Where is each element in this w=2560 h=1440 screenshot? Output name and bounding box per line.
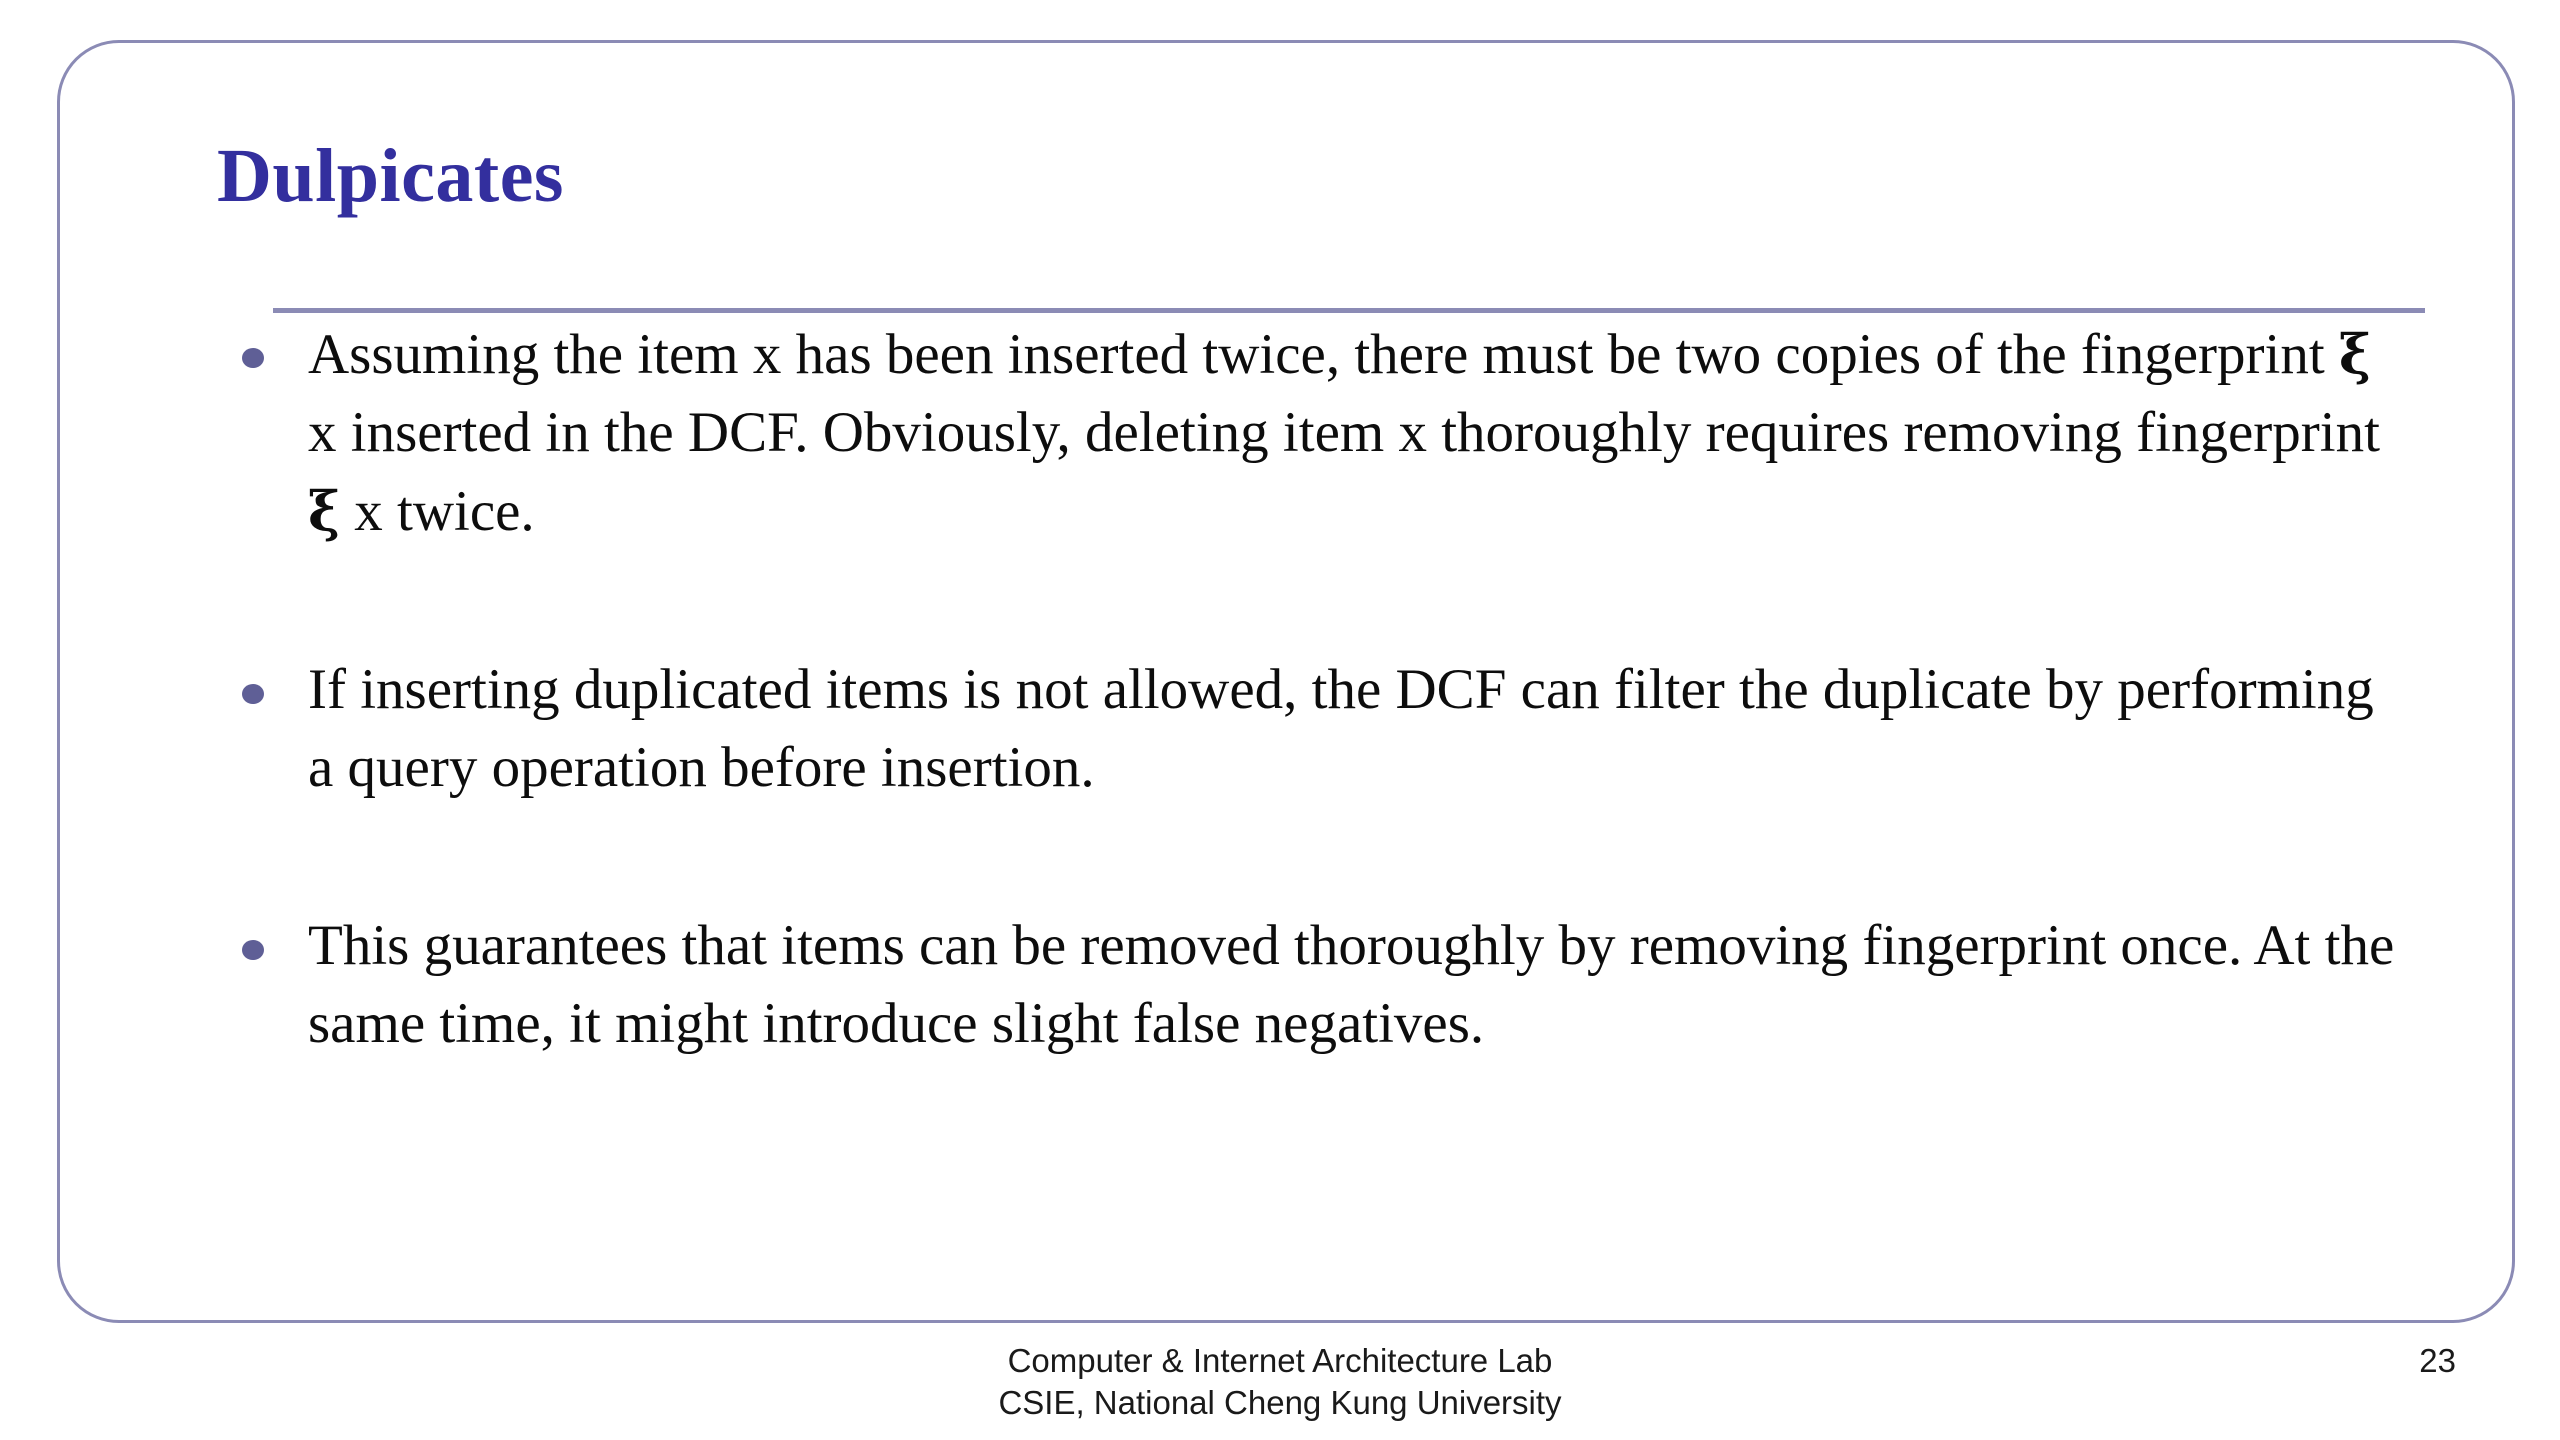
page-number: 23 [2419,1340,2456,1382]
filled-circle-bullet-icon [242,940,264,960]
slide-body: Assuming the item x has been inserted tw… [3,315,2560,1063]
bullet-text: If inserting duplicated items is not all… [308,651,2398,807]
bullet-text: This guarantees that items can be remove… [308,907,2398,1063]
footer-university-name: CSIE, National Cheng Kung University [0,1382,2560,1424]
filled-circle-bullet-icon [242,684,264,704]
footer-lab-name: Computer & Internet Architecture Lab [0,1340,2560,1382]
title-divider [273,308,2425,313]
bullet-item: If inserting duplicated items is not all… [3,651,2560,807]
greek-xi-symbol: ξ [2339,322,2371,386]
page-title: Dulpicates [217,138,564,214]
bullet-text: Assuming the item x has been inserted tw… [308,315,2398,551]
slide-footer: Computer & Internet Architecture Lab CSI… [0,1340,2560,1424]
filled-circle-bullet-icon [242,348,264,368]
slide-frame: Dulpicates Assuming the item x has been … [57,40,2515,1323]
bullet-item: This guarantees that items can be remove… [3,907,2560,1063]
bullet-item: Assuming the item x has been inserted tw… [3,315,2560,551]
greek-xi-symbol: ξ [308,479,340,543]
